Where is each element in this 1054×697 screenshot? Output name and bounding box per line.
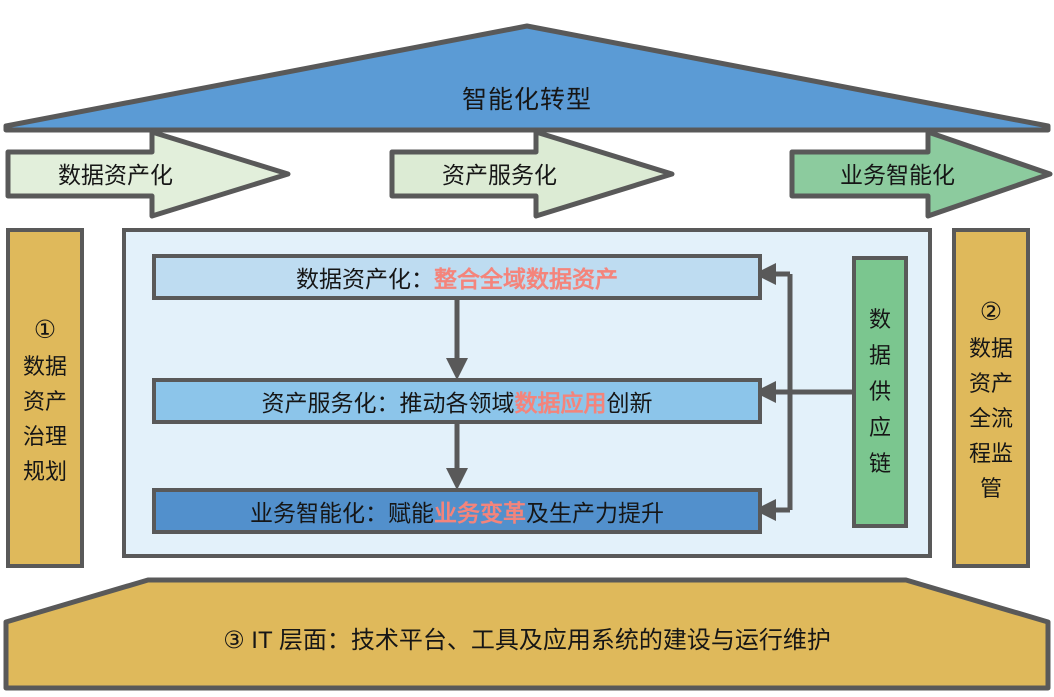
banner-shape	[6, 580, 1048, 688]
flow-box-3-suffix: 及生产力提升	[526, 494, 664, 528]
flow-box-1-highlight: 整合全域数据资产	[434, 260, 618, 294]
pillar-left-number: ①	[34, 318, 56, 343]
pillar-left-line-4: 规划	[23, 461, 67, 483]
arrow-asset-servitization[interactable]: 资产服务化	[388, 128, 676, 220]
flow-box-2-suffix: 创新	[607, 384, 653, 418]
pillar-right-supervision[interactable]: ② 数据 资产 全流 程监 管	[952, 228, 1030, 568]
supply-chain-char-1: 数	[869, 309, 891, 331]
roof-triangle	[6, 26, 1048, 130]
pillar-right-line-1: 数据	[969, 338, 1013, 360]
pillar-left-line-2: 资产	[23, 391, 67, 413]
arrow-shape	[392, 132, 672, 216]
flow-box-data-assetization[interactable]: 数据资产化：整合全域数据资产	[152, 254, 762, 300]
down-arrow-2	[446, 424, 468, 490]
down-arrow-1	[446, 300, 468, 380]
pillar-right-line-5: 管	[980, 478, 1002, 500]
arrow-business-intelligentization[interactable]: 业务智能化	[778, 128, 1054, 220]
flow-box-2-highlight: 数据应用	[515, 384, 607, 418]
flow-box-asset-servitization[interactable]: 资产服务化：推动各领域数据应用创新	[152, 378, 762, 424]
roof-shape: 智能化转型	[0, 22, 1054, 132]
arrow-shape	[792, 132, 1050, 216]
bottom-banner[interactable]: ③ IT 层面：技术平台、工具及应用系统的建设与运行维护	[0, 576, 1054, 692]
supply-chain-char-5: 链	[869, 453, 891, 475]
flow-box-1-prefix: 数据资产化：	[296, 260, 434, 294]
pillar-right-line-2: 资产	[969, 373, 1013, 395]
pillar-right-line-4: 程监	[969, 443, 1013, 465]
arrow-data-assetization[interactable]: 数据资产化	[4, 128, 292, 220]
arrow-shape	[8, 132, 288, 216]
flow-box-3-prefix: 业务智能化：赋能	[250, 494, 434, 528]
pillar-left-line-3: 治理	[23, 426, 67, 448]
arrow-band: 数据资产化 资产服务化 业务智能化	[0, 128, 1054, 220]
supply-chain-bar[interactable]: 数 据 供 应 链	[852, 256, 908, 528]
flow-box-3-highlight: 业务变革	[434, 494, 526, 528]
supply-chain-feedback-connector	[754, 263, 852, 521]
pillar-right-line-3: 全流	[969, 408, 1013, 430]
supply-chain-char-4: 应	[869, 417, 891, 439]
flow-box-business-intelligentization[interactable]: 业务智能化：赋能业务变革及生产力提升	[152, 488, 762, 534]
pillar-left-line-1: 数据	[23, 356, 67, 378]
diagram-canvas: 智能化转型 数据资产化 资产服务化 业务智能化 ① 数据 资产	[0, 0, 1054, 697]
pillar-left-governance[interactable]: ① 数据 资产 治理 规划	[6, 228, 84, 568]
supply-chain-char-3: 供	[869, 381, 891, 403]
pillar-right-number: ②	[980, 300, 1002, 325]
flow-box-2-prefix: 资产服务化：推动各领域	[262, 384, 515, 418]
supply-chain-char-2: 据	[869, 345, 891, 367]
